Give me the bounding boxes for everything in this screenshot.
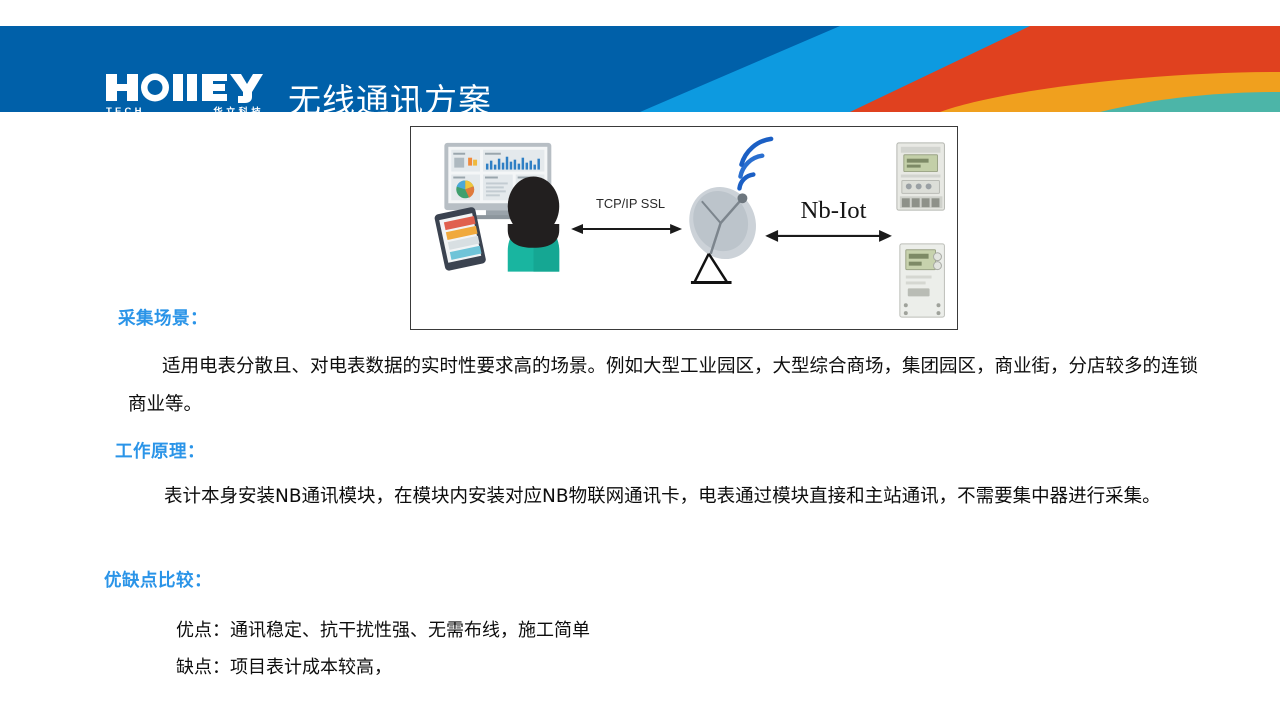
electricity-meter-top-icon xyxy=(897,143,945,210)
architecture-diagram: TCP/IP SSL Nb-Iot xyxy=(410,126,958,330)
comparison-pros-line: 优点：通讯稳定、抗干扰性强、无需布线，施工简单 xyxy=(176,616,590,642)
holley-logo-subline: TECH 华立科技 xyxy=(106,104,264,112)
logo-sub-cn: 华立科技 xyxy=(213,104,264,112)
section-paragraph-principle: 表计本身安装NB通讯模块，在模块内安装对应NB物联网通讯卡，电表通过模块直接和主… xyxy=(130,478,1220,516)
operator-person-icon xyxy=(508,177,559,272)
architecture-diagram-graphic: TCP/IP SSL Nb-Iot xyxy=(411,127,957,329)
section-paragraph-scene: 适用电表分散且、对电表数据的实时性要求高的场景。例如大型工业园区，大型综合商场，… xyxy=(128,348,1208,424)
electricity-meter-bottom-icon xyxy=(900,244,945,317)
holley-logo: TECH 华立科技 xyxy=(104,70,264,112)
tcpip-link-label: TCP/IP SSL xyxy=(596,196,665,211)
section-heading-comparison: 优缺点比较： xyxy=(104,567,212,592)
tcpip-link: TCP/IP SSL xyxy=(571,196,682,234)
section-heading-scene: 采集场景： xyxy=(118,305,208,330)
nbiot-link: Nb-Iot xyxy=(765,197,892,242)
page-header: TECH 华立科技 无线通讯方案 xyxy=(0,26,1280,112)
section-paragraph-scene-text: 适用电表分散且、对电表数据的实时性要求高的场景。例如大型工业园区，大型综合商场，… xyxy=(128,356,1198,415)
holley-wordmark-icon xyxy=(104,70,264,104)
page-title: 无线通讯方案 xyxy=(288,74,492,112)
wireless-signal-icon xyxy=(739,139,771,189)
logo-sub-en: TECH xyxy=(106,106,145,113)
comparison-cons-line: 缺点：项目表计成本较高， xyxy=(176,653,392,679)
section-paragraph-principle-text: 表计本身安装NB通讯模块，在模块内安装对应NB物联网通讯卡，电表通过模块直接和主… xyxy=(164,486,1161,507)
section-heading-principle: 工作原理： xyxy=(115,438,205,463)
nbiot-link-label: Nb-Iot xyxy=(801,197,867,224)
satellite-dish-icon xyxy=(678,176,768,282)
